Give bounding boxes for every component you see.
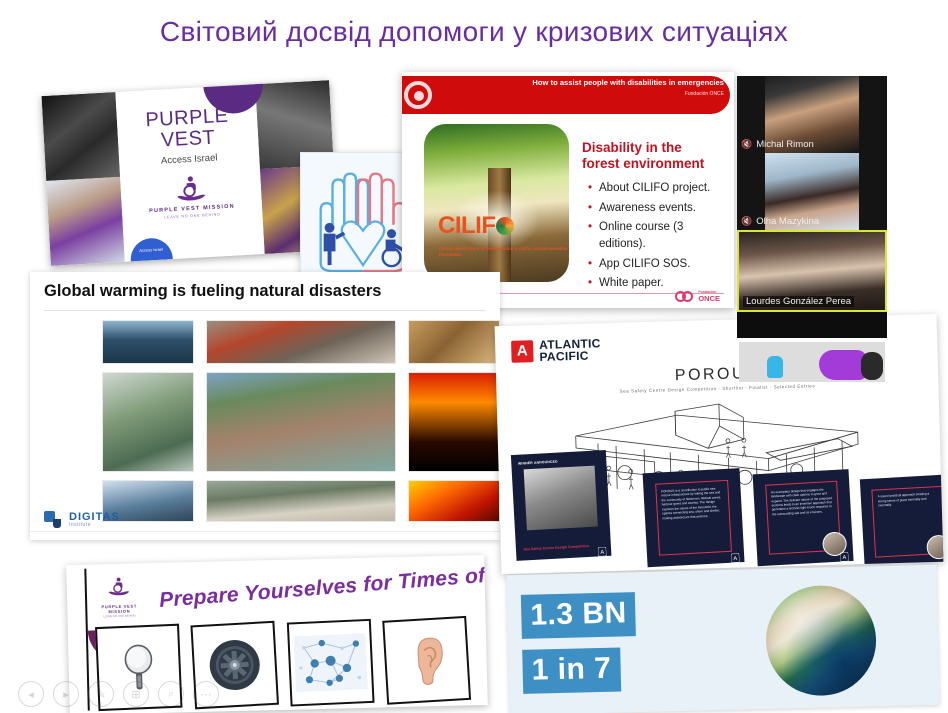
page-title: Світовий досвід допомоги у кризових ситу… — [0, 16, 948, 48]
drought-cracked-earth-photo — [408, 320, 500, 364]
digitas-brand: DIGITAS — [69, 511, 120, 523]
digitas-logo: DIGITAS Institute — [44, 511, 120, 528]
stat-value-ratio: 1 in 7 — [522, 648, 621, 694]
participant-name-badge: 🔇 Olha Mazykina — [741, 216, 819, 227]
atlantic-pacific-badge-icon: A — [598, 543, 606, 552]
once-ring-icon — [404, 81, 432, 109]
atlantic-pacific-logo-text: ATLANTIC PACIFIC — [539, 337, 601, 363]
room-object-right — [819, 350, 867, 380]
cilifo-heading: Disability in the forest environment — [582, 140, 722, 172]
divider — [30, 531, 500, 532]
once-rings-icon — [675, 291, 695, 302]
svg-text:A: A — [733, 556, 737, 562]
brand-line-2: PACIFIC — [539, 349, 589, 364]
wildfire-forest-photo — [408, 372, 500, 472]
muted-microphone-icon: 🔇 — [741, 140, 752, 149]
next-slide-button[interactable]: ▸ — [53, 681, 79, 707]
global-warming-heading: Global warming is fueling natural disast… — [44, 282, 381, 301]
digitas-logo-text: DIGITAS Institute — [69, 512, 120, 528]
wheelchair-in-hand-icon — [99, 575, 140, 602]
list-item: Awareness events. — [588, 200, 726, 217]
atlantic-pacific-badge-icon: A — [731, 549, 739, 558]
more-options-button[interactable]: ⋯ — [193, 681, 219, 707]
atlantic-pacific-logo: ATLANTIC PACIFIC — [511, 337, 601, 364]
participant-name-badge: 🔇 Michal Rimon — [741, 139, 814, 150]
video-tile-partial[interactable] — [739, 342, 885, 382]
cilifo-logo-text: CILIF — [438, 212, 496, 239]
room-object-left — [767, 356, 783, 378]
divider — [44, 310, 486, 311]
rescue-photo-1 — [41, 92, 120, 181]
purple-vest-logo-panel: PURPLE VEST Access Israel PURPLE VEST MI… — [115, 84, 264, 262]
cilifo-logo: CILIF — [438, 212, 514, 240]
once-logo-text: Fundación ONCE — [698, 291, 720, 302]
participant-name: Michal Rimon — [756, 139, 814, 150]
stat-value-total: 1.3 BN — [521, 592, 636, 639]
room-object-edge — [861, 352, 883, 380]
disaster-photo-grid — [102, 320, 490, 525]
winner-card: WINNER ANNOUNCED Sea Safety Centre Desig… — [511, 450, 612, 561]
participant-name-badge: Lourdes González Perea — [743, 296, 854, 307]
cilifo-flame-icon — [496, 217, 514, 235]
earth-globe-image — [765, 584, 878, 697]
grid-view-button[interactable]: ⊞ — [123, 681, 149, 707]
cilifo-bullet-list: About CILIFO project. Awareness events. … — [588, 180, 726, 295]
fundacion-once-logo: Fundación ONCE — [675, 291, 720, 302]
video-tile-participant[interactable]: 🔇 Michal Rimon — [737, 76, 887, 153]
hurricane-palm-trees-photo — [102, 372, 194, 472]
presentation-screen: Світовий досвід допомоги у кризових ситу… — [0, 0, 948, 713]
winner-portrait-photo — [524, 465, 598, 530]
zoom-button[interactable]: ⌕ — [158, 681, 184, 707]
typhoon-destroyed-village-photo — [206, 372, 396, 472]
digitas-mark-icon — [44, 511, 61, 528]
svg-text:A: A — [842, 555, 846, 561]
porous-card-row: WINNER ANNOUNCED Sea Safety Centre Desig… — [508, 442, 941, 572]
avatar — [926, 534, 943, 559]
participant-name: Olha Mazykina — [756, 216, 819, 227]
atlantic-pacific-mark-icon — [511, 340, 534, 363]
atlantic-pacific-badge-icon: A — [840, 548, 848, 557]
winner-label: WINNER ANNOUNCED — [518, 460, 558, 466]
list-item: Online course (3 editions). — [588, 219, 726, 252]
cilifo-banner-title: How to assist people with disabilities i… — [532, 78, 724, 87]
winner-caption: Sea Safety Centre Design Competition — [523, 544, 589, 552]
access-israel-badge: Access Israel — [130, 237, 173, 261]
network-diagram-icon — [287, 619, 375, 707]
volunteer-photo — [46, 177, 125, 266]
pen-annotate-button[interactable]: ✎ — [88, 681, 114, 707]
digitas-brand-sub: Institute — [69, 523, 120, 528]
quote-text: POROUS is a contribution to public sea-r… — [661, 486, 726, 549]
purple-vest-heading-line2: VEST — [160, 127, 215, 152]
forest-tree-photo: CILIF Centro Ibérico para la Investigaci… — [424, 124, 569, 282]
purple-vest-slide: PURPLE VEST Access Israel PURPLE VEST MI… — [41, 80, 338, 266]
landslide-damaged-roof-photo — [206, 480, 396, 522]
cilifo-logo-subtitle: Centro Ibérico para la Investigación y L… — [439, 246, 569, 258]
video-tile-participant[interactable]: 🔇 Olha Mazykina — [737, 153, 887, 230]
video-participant-rail: 🔇 Michal Rimon 🔇 Olha Mazykina Lourdes G… — [737, 76, 887, 338]
cilifo-banner-org: Fundación ONCE — [685, 91, 724, 97]
list-item: App CILIFO SOS. — [588, 256, 726, 273]
quote-card-2: An exemplary design that engages the lan… — [753, 469, 854, 566]
lava-flow-photo — [408, 480, 500, 522]
once-logo-main: ONCE — [698, 294, 720, 303]
presentation-controls[interactable]: ◂ ▸ ✎ ⊞ ⌕ ⋯ — [18, 681, 219, 707]
storm-waves-photo — [102, 320, 194, 364]
purple-vest-photo-grid: PURPLE VEST Access Israel PURPLE VEST MI… — [41, 80, 338, 266]
svg-text:A: A — [600, 550, 604, 556]
list-item: About CILIFO project. — [588, 180, 726, 197]
global-warming-panel: Global warming is fueling natural disast… — [30, 272, 500, 540]
prepare-title: Prepare Yourselves for Times of Emergenc… — [158, 565, 471, 613]
purple-vest-mission-logo: PURPLE VEST MISSION LEAVE NO ONE BEHIND — [99, 575, 140, 618]
previous-slide-button[interactable]: ◂ — [18, 681, 44, 707]
prepare-logo-tagline: LEAVE NO ONE BEHIND — [99, 613, 139, 618]
quote-card-3: A sound practical approach creating a st… — [860, 474, 944, 569]
ear-icon — [382, 616, 471, 705]
purple-vest-heading: PURPLE VEST — [116, 104, 258, 154]
purple-vest-subtitle: Access Israel — [119, 150, 259, 169]
population-statistic-slide: 1.3 BN 1 in 7 — [506, 565, 939, 713]
quote-card-1: POROUS is a contribution to public sea-r… — [643, 468, 745, 567]
muted-microphone-icon: 🔇 — [741, 217, 752, 226]
participant-name: Lourdes González Perea — [746, 296, 851, 307]
video-tile-active-speaker[interactable]: Lourdes González Perea — [737, 230, 887, 312]
earthquake-rubble-photo — [206, 320, 396, 364]
